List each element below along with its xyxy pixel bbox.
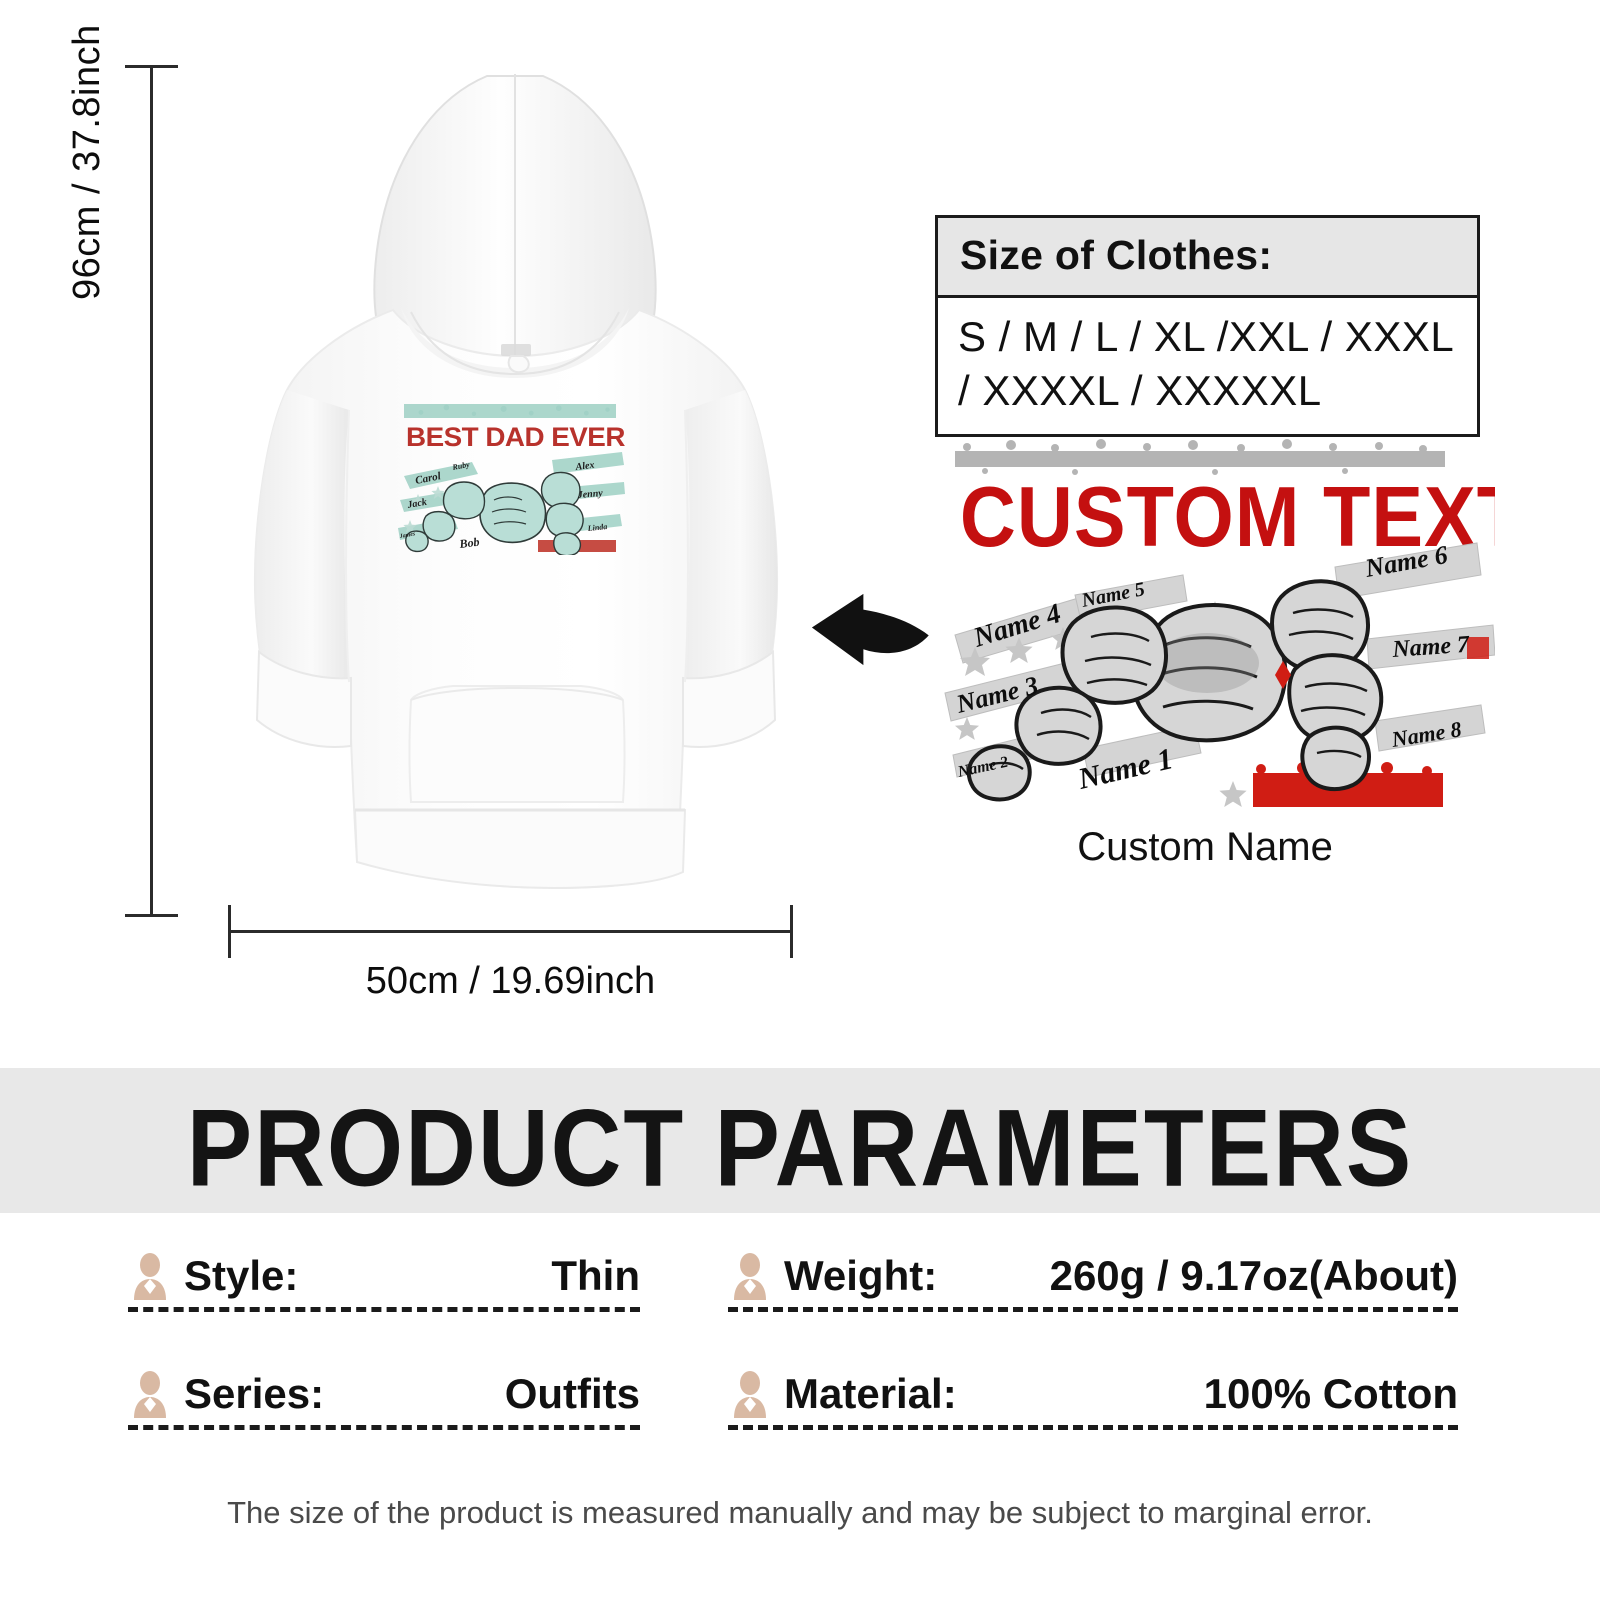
size-table-header: Size of Clothes: — [938, 218, 1477, 298]
parameter-label: Material: — [784, 1370, 957, 1418]
svg-text:Alex: Alex — [574, 460, 595, 473]
size-table-values: S / M / L / XL /XXL / XXXL / XXXXL / XXX… — [938, 298, 1477, 434]
parameter-value: 260g / 9.17oz(About) — [1050, 1252, 1458, 1300]
parameter-value: Thin — [551, 1252, 640, 1300]
parameter-row-style: Style: Thin — [128, 1245, 640, 1345]
width-dimension-line — [228, 930, 793, 933]
height-dimension-label: 96cm / 37.8inch — [66, 0, 109, 300]
svg-text:Jenny: Jenny — [576, 488, 603, 501]
person-icon — [728, 1370, 772, 1418]
row-divider — [728, 1307, 1458, 1312]
parameter-label: Series: — [184, 1370, 324, 1418]
svg-text:Carol: Carol — [414, 470, 442, 487]
height-dimension-line — [150, 66, 153, 916]
svg-text:Jack: Jack — [406, 497, 428, 511]
size-list-line-1: S / M / L / XL /XXL / XXXL — [958, 310, 1457, 364]
hoodie-print-artwork: BEST DAD EVER — [398, 400, 626, 555]
parameter-label: Weight: — [784, 1252, 937, 1300]
svg-text:Linda: Linda — [586, 522, 607, 533]
row-divider — [128, 1307, 640, 1312]
print-grunge-stripe — [404, 404, 616, 418]
row-divider — [728, 1425, 1458, 1430]
parameter-value: 100% Cotton — [1204, 1370, 1458, 1418]
parameter-row-weight: Weight: 260g / 9.17oz(About) — [728, 1245, 1458, 1345]
person-icon — [128, 1370, 172, 1418]
size-of-clothes-table: Size of Clothes: S / M / L / XL /XXL / X… — [935, 215, 1480, 437]
width-dimension-cap-left — [228, 905, 231, 958]
person-icon — [728, 1252, 772, 1300]
person-icon — [128, 1252, 172, 1300]
size-list-line-2: / XXXXL / XXXXXL — [958, 364, 1457, 418]
svg-text:Name 7: Name 7 — [1391, 632, 1471, 663]
print-fists-graphic: Carol Ruby Jack Bob James Alex Jenny Lin… — [398, 448, 626, 555]
product-photo-section: 96cm / 37.8inch — [0, 0, 1600, 1055]
design-caption: Custom Name — [915, 825, 1495, 870]
design-artwork: CUSTOM TEXT — [915, 425, 1495, 825]
width-dimension-label: 50cm / 19.69inch — [228, 960, 793, 1003]
parameter-row-series: Series: Outfits — [128, 1363, 640, 1463]
product-listing-image: 96cm / 37.8inch — [0, 0, 1600, 1600]
row-divider — [128, 1425, 640, 1430]
product-parameters-title: PRODUCT PARAMETERS — [0, 1080, 1600, 1214]
parameter-label: Style: — [184, 1252, 298, 1300]
parameter-value: Outfits — [505, 1370, 640, 1418]
svg-text:Bob: Bob — [458, 535, 481, 551]
width-dimension-cap-right — [790, 905, 793, 958]
height-dimension-cap-top — [125, 65, 178, 68]
measurement-disclaimer: The size of the product is measured manu… — [0, 1495, 1600, 1531]
parameter-row-material: Material: 100% Cotton — [728, 1363, 1458, 1463]
height-dimension-cap-bottom — [125, 914, 178, 917]
